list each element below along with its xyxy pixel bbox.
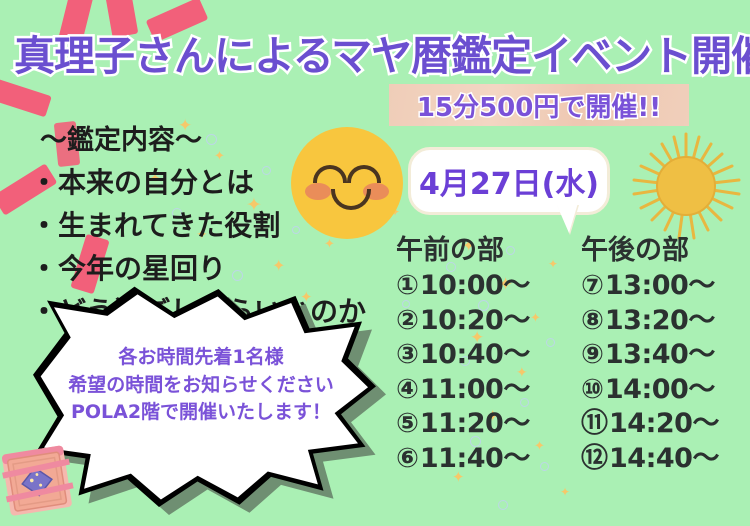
slot-number: ⑩ bbox=[581, 373, 604, 408]
slot-time: 14:20〜 bbox=[609, 407, 719, 442]
smiling-face-icon bbox=[291, 127, 403, 239]
slot-number: ⑫ bbox=[581, 442, 608, 477]
slot-time: 11:40〜 bbox=[420, 442, 530, 477]
slot-number: ⑪ bbox=[581, 407, 608, 442]
time-slot[interactable]: ④11:00〜 bbox=[396, 373, 561, 408]
slot-time: 10:40〜 bbox=[420, 338, 530, 373]
notice-text: 各お時間先着1名様 希望の時間をお知らせください POLA2階で開催いたします！ bbox=[26, 344, 376, 427]
price-text: 15分500円で開催!! bbox=[417, 87, 661, 124]
slot-number: ⑧ bbox=[581, 304, 604, 339]
notice-line: 各お時間先着1名様 bbox=[26, 344, 376, 372]
slot-number: ⑦ bbox=[581, 269, 604, 304]
time-slot[interactable]: ⑪14:20〜 bbox=[581, 407, 746, 442]
time-slot[interactable]: ①10:00〜 bbox=[396, 269, 561, 304]
time-slot[interactable]: ⑩14:00〜 bbox=[581, 373, 746, 408]
slot-time: 14:40〜 bbox=[609, 442, 719, 477]
time-slot[interactable]: ③10:40〜 bbox=[396, 338, 561, 373]
slot-time: 10:20〜 bbox=[420, 304, 530, 339]
time-slot[interactable]: ⑧13:20〜 bbox=[581, 304, 746, 339]
afternoon-header: 午後の部 bbox=[581, 228, 746, 267]
slot-number: ① bbox=[396, 269, 419, 304]
time-slot[interactable]: ⑦13:00〜 bbox=[581, 269, 746, 304]
slot-number: ③ bbox=[396, 338, 419, 373]
notice-line: 希望の時間をお知らせください bbox=[26, 372, 376, 400]
slot-number: ⑥ bbox=[396, 442, 419, 477]
slot-time: 13:00〜 bbox=[605, 269, 715, 304]
page-title: 真理子さんによるマヤ暦鑑定イベント開催！！ bbox=[14, 22, 740, 82]
morning-header: 午前の部 bbox=[396, 228, 561, 267]
event-flyer: ✦ ✦ ✦ ✦ ✦ ✦ ✦ ✦ ✦ ✦ ✦ ✦ ✦ ✦ ✦ ✦ ✦ ✦ ✦ 真 bbox=[0, 0, 750, 526]
afternoon-column: 午後の部 ⑦13:00〜 ⑧13:20〜 ⑨13:40〜 ⑩14:00〜 ⑪14… bbox=[581, 228, 746, 476]
slot-time: 14:00〜 bbox=[605, 373, 715, 408]
price-banner: 15分500円で開催!! bbox=[389, 84, 689, 126]
slot-time: 10:00〜 bbox=[420, 269, 530, 304]
notice-line: POLA2階で開催いたします！ bbox=[26, 399, 376, 427]
time-slot[interactable]: ⑨13:40〜 bbox=[581, 338, 746, 373]
morning-column: 午前の部 ①10:00〜 ②10:20〜 ③10:40〜 ④11:00〜 ⑤11… bbox=[396, 228, 561, 476]
slot-number: ⑤ bbox=[396, 407, 419, 442]
time-slot[interactable]: ②10:20〜 bbox=[396, 304, 561, 339]
slot-time: 11:20〜 bbox=[420, 407, 530, 442]
tarot-book-icon bbox=[0, 437, 85, 524]
content-item: ・今年の星回り bbox=[30, 247, 370, 287]
time-slot[interactable]: ⑥11:40〜 bbox=[396, 442, 561, 477]
event-date: 4月27日(水) bbox=[419, 159, 599, 203]
time-slot[interactable]: ⑫14:40〜 bbox=[581, 442, 746, 477]
date-bubble: 4月27日(水) bbox=[408, 147, 610, 215]
slot-time: 13:40〜 bbox=[605, 338, 715, 373]
streamer-1 bbox=[0, 77, 52, 118]
time-slot[interactable]: ⑤11:20〜 bbox=[396, 407, 561, 442]
slot-time: 13:20〜 bbox=[605, 304, 715, 339]
slot-time: 11:00〜 bbox=[420, 373, 530, 408]
sun-icon bbox=[629, 130, 744, 242]
slot-number: ② bbox=[396, 304, 419, 339]
time-schedule: 午前の部 ①10:00〜 ②10:20〜 ③10:40〜 ④11:00〜 ⑤11… bbox=[396, 228, 746, 476]
slot-number: ④ bbox=[396, 373, 419, 408]
slot-number: ⑨ bbox=[581, 338, 604, 373]
